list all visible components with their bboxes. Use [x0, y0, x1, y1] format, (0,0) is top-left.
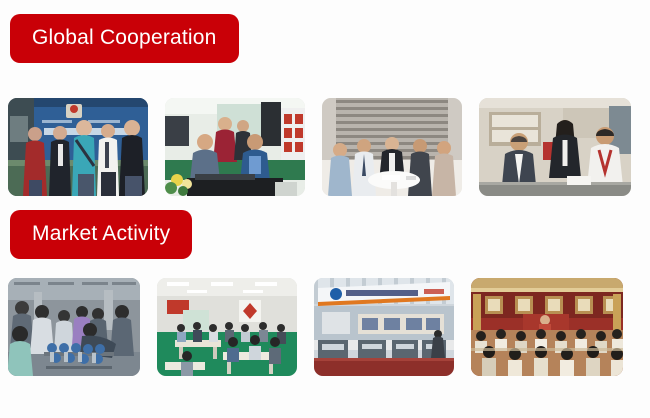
- photo-training-room-seated-attendees: [157, 278, 297, 376]
- photo-office-three-people-handshake: [479, 98, 631, 196]
- photo-card-training-room-seated-attendees[interactable]: [157, 278, 297, 376]
- photo-gallery-market-activity: [0, 278, 650, 376]
- photo-showroom-four-people-desk: [165, 98, 305, 196]
- photo-gallery-global-cooperation: [0, 98, 650, 196]
- banner-market-activity: Market Activity: [10, 210, 192, 259]
- section-header-global-cooperation: Global Cooperation: [0, 14, 650, 63]
- photo-card-office-three-people-handshake[interactable]: [479, 98, 631, 196]
- photo-group-five-people-blue-banner: [8, 98, 148, 196]
- photo-card-showroom-four-people-desk[interactable]: [165, 98, 305, 196]
- photo-card-factory-tour-visitors[interactable]: [8, 278, 140, 376]
- banner-global-cooperation: Global Cooperation: [10, 14, 239, 63]
- photo-card-group-five-people-blue-banner[interactable]: [8, 98, 148, 196]
- photo-card-conference-hall-audience[interactable]: [471, 278, 623, 376]
- photo-card-exhibition-booth-banner[interactable]: [314, 278, 454, 376]
- section-header-market-activity: Market Activity: [0, 210, 650, 259]
- photo-meeting-round-table-blinds: [322, 98, 462, 196]
- photo-card-meeting-round-table-blinds[interactable]: [322, 98, 462, 196]
- photo-conference-hall-audience: [471, 278, 623, 376]
- photo-exhibition-booth-banner: [314, 278, 454, 376]
- photo-factory-tour-visitors: [8, 278, 140, 376]
